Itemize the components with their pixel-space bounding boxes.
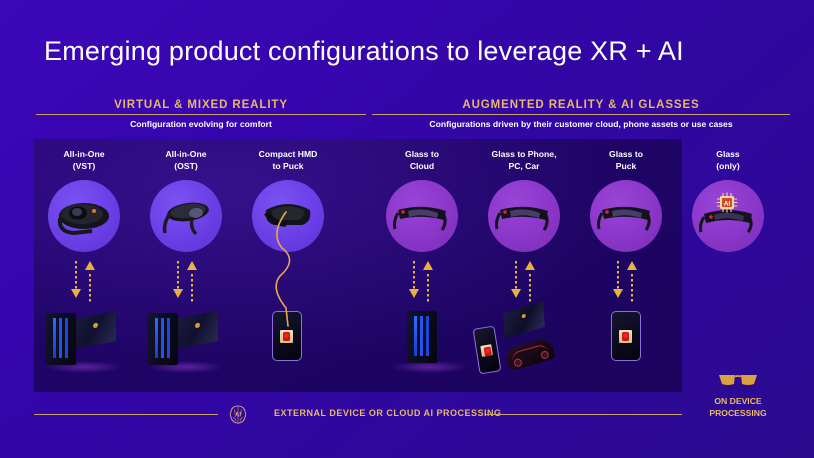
laptop-phone-car-icon	[472, 305, 576, 385]
wireless-link-arrows	[610, 261, 642, 303]
ai-brain-icon: AI	[226, 403, 250, 427]
section-title: VIRTUAL & MIXED REALITY	[36, 99, 366, 111]
ai-chip-badge: AI	[717, 193, 738, 213]
column-label: All-in-One (OST)	[134, 149, 238, 172]
column-label: All-in-One (VST)	[32, 149, 136, 172]
column-label: Compact HMD to Puck	[236, 149, 340, 172]
svg-text:AI: AI	[235, 413, 241, 419]
column-compact-hmd-to-puck: Compact HMD to Puck	[236, 149, 340, 385]
ost-headset-icon	[150, 180, 222, 252]
laptop-icon	[503, 301, 545, 339]
column-glass-only: Glass (only) AI	[676, 149, 780, 252]
processor-chip-icon	[280, 330, 293, 343]
page-title: Emerging product configurations to lever…	[44, 36, 684, 67]
column-glass-to-cloud: Glass to Cloud	[370, 149, 474, 385]
pc-tower-and-monitor-icon	[134, 305, 238, 385]
column-label: Glass to Puck	[574, 149, 678, 172]
puck-with-chip-icon	[236, 305, 340, 385]
section-subtitle: Configurations driven by their customer …	[372, 119, 790, 129]
column-label: Glass to Phone, PC, Car	[472, 149, 576, 172]
processor-chip-icon	[619, 330, 632, 343]
phone-icon	[473, 326, 502, 375]
vr-headset-icon	[48, 180, 120, 252]
section-subtitle: Configuration evolving for comfort	[36, 119, 366, 129]
section-divider	[36, 114, 366, 115]
wireless-link-arrows	[508, 261, 540, 303]
puck-with-chip-icon	[574, 305, 678, 385]
banner-label: EXTERNAL DEVICE OR CLOUD AI PROCESSING	[274, 408, 502, 418]
column-all-in-one-ost: All-in-One (OST)	[134, 149, 238, 385]
glasses-icon	[717, 371, 759, 389]
on-device-label: ON DEVICE PROCESSING	[688, 396, 788, 419]
column-glass-to-puck: Glass to Puck	[574, 149, 678, 385]
ai-glasses-with-chip-icon: AI	[692, 180, 764, 252]
pc-tower-and-monitor-icon	[32, 305, 136, 385]
banner-rule-left	[34, 414, 218, 415]
banner-rule-right	[486, 414, 682, 415]
ar-glasses-icon	[386, 180, 458, 252]
external-processing-banner: AI EXTERNAL DEVICE OR CLOUD AI PROCESSIN…	[34, 403, 682, 425]
on-device-processing: ON DEVICE PROCESSING	[688, 371, 788, 419]
cloud-server-tower-icon	[370, 305, 474, 385]
section-divider	[372, 114, 790, 115]
ar-glasses-icon	[590, 180, 662, 252]
wireless-link-arrows	[170, 261, 202, 303]
tethered-cable-placeholder	[272, 261, 304, 303]
compact-hmd-icon	[252, 180, 324, 252]
wireless-link-arrows	[406, 261, 438, 303]
wireless-link-arrows	[68, 261, 100, 303]
column-glass-to-phone-pc-car: Glass to Phone, PC, Car	[472, 149, 576, 385]
ar-glasses-icon	[488, 180, 560, 252]
section-header-virtual-mixed-reality: VIRTUAL & MIXED REALITY Configuration ev…	[36, 99, 366, 129]
column-label: Glass to Cloud	[370, 149, 474, 172]
column-all-in-one-vst: All-in-One (VST)	[32, 149, 136, 385]
processor-chip-icon	[480, 344, 493, 357]
slide-canvas: Emerging product configurations to lever…	[0, 0, 814, 458]
column-label: Glass (only)	[676, 149, 780, 172]
svg-text:AI: AI	[724, 201, 731, 208]
car-icon	[504, 337, 556, 371]
section-header-augmented-reality-ai-glasses: AUGMENTED REALITY & AI GLASSES Configura…	[372, 99, 790, 129]
section-title: AUGMENTED REALITY & AI GLASSES	[372, 99, 790, 111]
